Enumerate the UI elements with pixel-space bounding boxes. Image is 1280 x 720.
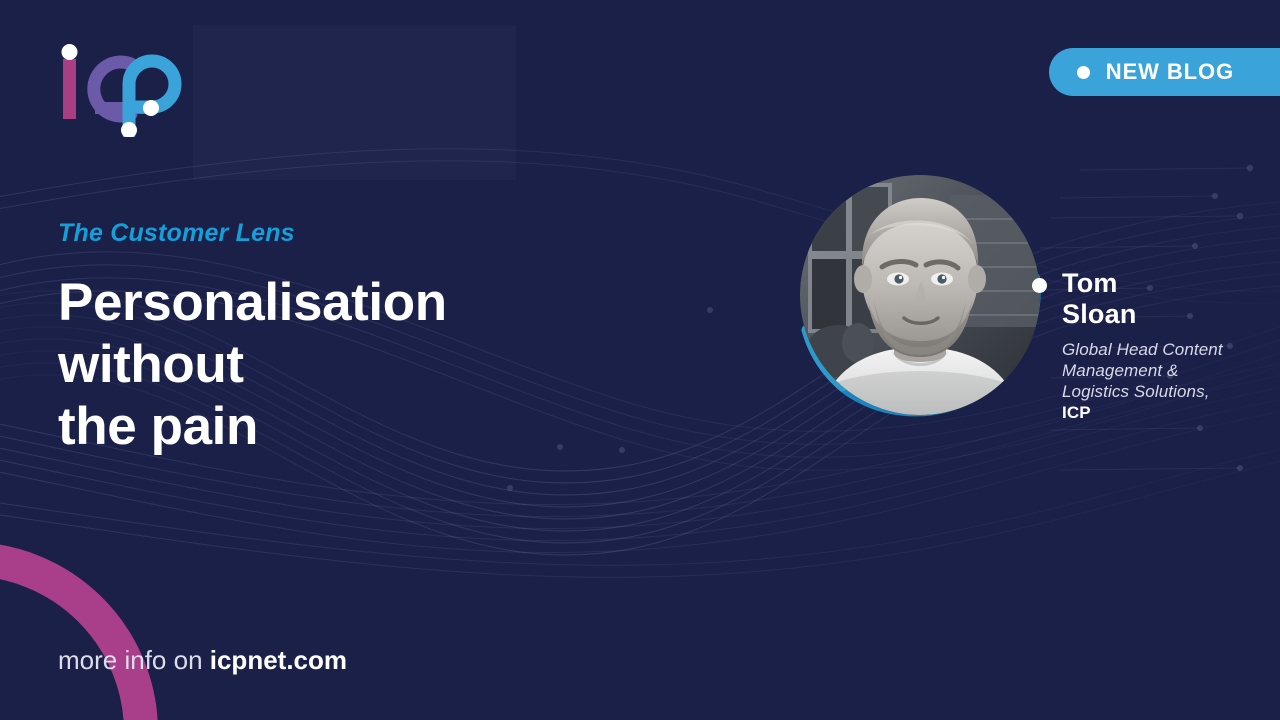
series-eyebrow: The Customer Lens bbox=[58, 219, 295, 248]
new-blog-badge-label: NEW BLOG bbox=[1106, 59, 1234, 85]
footer-website-link[interactable]: icpnet.com bbox=[210, 645, 347, 675]
portrait-photo bbox=[800, 175, 1040, 415]
portrait-image bbox=[800, 175, 1040, 415]
footer-prefix: more info on bbox=[58, 645, 210, 675]
speaker-name-line: Sloan bbox=[1062, 299, 1277, 330]
speaker-name-line: Tom bbox=[1062, 268, 1277, 299]
filled-dot-icon bbox=[1077, 66, 1090, 79]
headline: Personalisation without the pain bbox=[58, 272, 618, 458]
speaker-role-line: Management & bbox=[1062, 360, 1277, 381]
headline-line: Personalisation bbox=[58, 272, 618, 334]
headline-line: the pain bbox=[58, 396, 618, 458]
footer-more-info[interactable]: more info on icpnet.com bbox=[58, 645, 347, 676]
icp-logo[interactable] bbox=[57, 42, 187, 137]
speaker-portrait bbox=[800, 175, 1040, 415]
speaker-company: ICP bbox=[1062, 402, 1277, 423]
pink-arc-decoration bbox=[0, 542, 158, 720]
speaker-role-line: Logistics Solutions, bbox=[1062, 381, 1277, 402]
speaker-name: Tom Sloan bbox=[1062, 268, 1277, 330]
ring-dot-icon bbox=[1032, 278, 1047, 293]
headline-line: without bbox=[58, 334, 618, 396]
promo-card: NEW BLOG The Customer Lens Personalisati… bbox=[0, 0, 1280, 720]
background-panel-rectangle bbox=[193, 25, 516, 180]
speaker-info: Tom Sloan Global Head Content Management… bbox=[1062, 268, 1277, 423]
speaker-role-line: Global Head Content bbox=[1062, 339, 1277, 360]
icp-logo-icon bbox=[57, 42, 187, 137]
speaker-role: Global Head Content Management & Logisti… bbox=[1062, 339, 1277, 423]
new-blog-badge[interactable]: NEW BLOG bbox=[1049, 48, 1280, 96]
